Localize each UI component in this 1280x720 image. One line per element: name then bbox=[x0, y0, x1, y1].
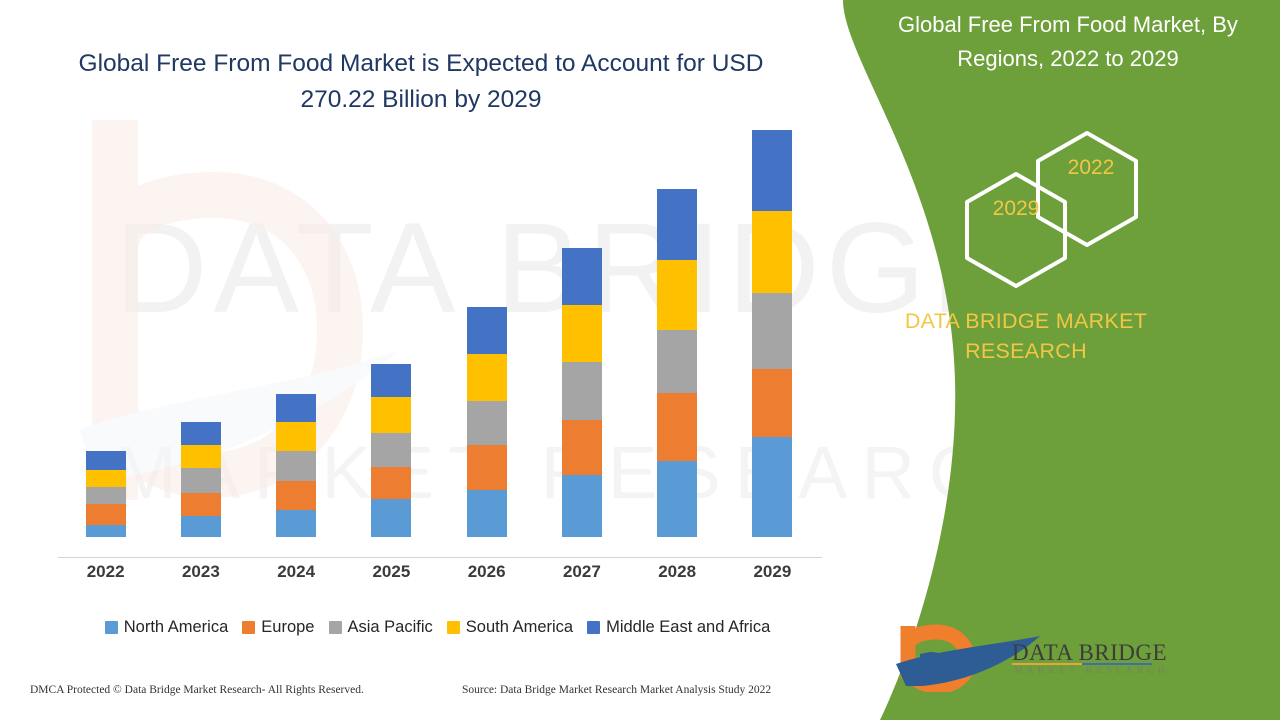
segment-south-america-2022[interactable] bbox=[86, 470, 126, 486]
page-title: Global Free From Food Market is Expected… bbox=[56, 46, 786, 118]
segment-north-america-2024[interactable] bbox=[276, 510, 316, 537]
logo-subtext: MARKET RESEARCH bbox=[1014, 666, 1169, 676]
green-panel-content: Global Free From Food Market, By Regions… bbox=[848, 0, 1280, 720]
segment-middle-east-and-africa-2025[interactable] bbox=[371, 364, 411, 398]
legend-label: Asia Pacific bbox=[348, 618, 433, 637]
segment-europe-2027[interactable] bbox=[562, 420, 602, 475]
x-axis-label-2029: 2029 bbox=[725, 562, 820, 582]
legend-swatch-icon bbox=[329, 621, 342, 634]
footer-source: Source: Data Bridge Market Research Mark… bbox=[462, 684, 771, 696]
segment-europe-2029[interactable] bbox=[752, 369, 792, 437]
bar-2028[interactable] bbox=[657, 130, 697, 537]
chart-legend: North AmericaEuropeAsia PacificSouth Ame… bbox=[40, 613, 835, 641]
x-axis-labels: 20222023202420252026202720282029 bbox=[58, 562, 820, 592]
segment-south-america-2024[interactable] bbox=[276, 422, 316, 450]
segment-europe-2026[interactable] bbox=[467, 445, 507, 490]
bar-2027[interactable] bbox=[562, 130, 602, 537]
legend-item-europe[interactable]: Europe bbox=[242, 618, 314, 637]
segment-middle-east-and-africa-2023[interactable] bbox=[181, 422, 221, 445]
segment-north-america-2023[interactable] bbox=[181, 516, 221, 537]
segment-middle-east-and-africa-2028[interactable] bbox=[657, 189, 697, 260]
segment-north-america-2029[interactable] bbox=[752, 437, 792, 537]
segment-middle-east-and-africa-2024[interactable] bbox=[276, 394, 316, 422]
segment-south-america-2029[interactable] bbox=[752, 211, 792, 293]
legend-item-asia-pacific[interactable]: Asia Pacific bbox=[329, 618, 433, 637]
segment-south-america-2028[interactable] bbox=[657, 260, 697, 330]
segment-middle-east-and-africa-2022[interactable] bbox=[86, 451, 126, 471]
chart-plot-area bbox=[58, 150, 820, 537]
segment-middle-east-and-africa-2026[interactable] bbox=[467, 307, 507, 354]
segment-europe-2022[interactable] bbox=[86, 504, 126, 525]
green-panel-brand: DATA BRIDGE MARKET RESEARCH bbox=[876, 306, 1176, 366]
segment-asia-pacific-2026[interactable] bbox=[467, 401, 507, 446]
segment-north-america-2027[interactable] bbox=[562, 475, 602, 537]
segment-europe-2028[interactable] bbox=[657, 393, 697, 461]
segment-asia-pacific-2023[interactable] bbox=[181, 468, 221, 493]
legend-swatch-icon bbox=[242, 621, 255, 634]
segment-north-america-2025[interactable] bbox=[371, 499, 411, 537]
green-panel-title: Global Free From Food Market, By Regions… bbox=[870, 8, 1266, 76]
bar-2023[interactable] bbox=[181, 130, 221, 537]
legend-swatch-icon bbox=[447, 621, 460, 634]
segment-middle-east-and-africa-2029[interactable] bbox=[752, 130, 792, 211]
logo-rule bbox=[1012, 663, 1152, 665]
legend-swatch-icon bbox=[105, 621, 118, 634]
bar-2029[interactable] bbox=[752, 130, 792, 537]
segment-europe-2025[interactable] bbox=[371, 467, 411, 499]
bar-2026[interactable] bbox=[467, 130, 507, 537]
hexagon-badges: 2029 2022 bbox=[944, 128, 1204, 288]
legend-item-south-america[interactable]: South America bbox=[447, 618, 573, 637]
footer-copyright: DMCA Protected © Data Bridge Market Rese… bbox=[30, 684, 364, 696]
bar-2025[interactable] bbox=[371, 130, 411, 537]
legend-label: Europe bbox=[261, 618, 314, 637]
segment-north-america-2028[interactable] bbox=[657, 461, 697, 537]
legend-swatch-icon bbox=[587, 621, 600, 634]
legend-item-middle-east-and-africa[interactable]: Middle East and Africa bbox=[587, 618, 770, 637]
x-axis-label-2023: 2023 bbox=[153, 562, 248, 582]
segment-south-america-2023[interactable] bbox=[181, 445, 221, 468]
segment-middle-east-and-africa-2027[interactable] bbox=[562, 248, 602, 305]
legend-label: South America bbox=[466, 618, 573, 637]
legend-item-north-america[interactable]: North America bbox=[105, 618, 229, 637]
segment-asia-pacific-2024[interactable] bbox=[276, 451, 316, 482]
segment-europe-2023[interactable] bbox=[181, 493, 221, 516]
x-axis-label-2027: 2027 bbox=[534, 562, 629, 582]
segment-asia-pacific-2025[interactable] bbox=[371, 433, 411, 467]
segment-south-america-2027[interactable] bbox=[562, 305, 602, 363]
x-axis-label-2022: 2022 bbox=[58, 562, 153, 582]
x-axis-label-2026: 2026 bbox=[439, 562, 534, 582]
x-axis-label-2024: 2024 bbox=[249, 562, 344, 582]
x-axis-label-2028: 2028 bbox=[630, 562, 725, 582]
segment-asia-pacific-2027[interactable] bbox=[562, 362, 602, 420]
segment-asia-pacific-2028[interactable] bbox=[657, 330, 697, 393]
bar-2022[interactable] bbox=[86, 130, 126, 537]
segment-asia-pacific-2022[interactable] bbox=[86, 487, 126, 504]
hex-label-2029: 2029 bbox=[966, 197, 1066, 221]
x-axis-line bbox=[58, 557, 822, 558]
stacked-bar-chart: 20222023202420252026202720282029 bbox=[40, 150, 830, 562]
infographic-page: DATA BRIDGE MARKET RESEARCH Global Free … bbox=[0, 0, 1280, 720]
x-axis-label-2025: 2025 bbox=[344, 562, 439, 582]
segment-north-america-2022[interactable] bbox=[86, 525, 126, 537]
bar-2024[interactable] bbox=[276, 130, 316, 537]
segment-north-america-2026[interactable] bbox=[467, 490, 507, 537]
segment-asia-pacific-2029[interactable] bbox=[752, 293, 792, 369]
hex-label-2022: 2022 bbox=[1041, 156, 1141, 180]
segment-south-america-2026[interactable] bbox=[467, 354, 507, 401]
legend-label: North America bbox=[124, 618, 229, 637]
legend-label: Middle East and Africa bbox=[606, 618, 770, 637]
segment-europe-2024[interactable] bbox=[276, 481, 316, 509]
segment-south-america-2025[interactable] bbox=[371, 397, 411, 433]
